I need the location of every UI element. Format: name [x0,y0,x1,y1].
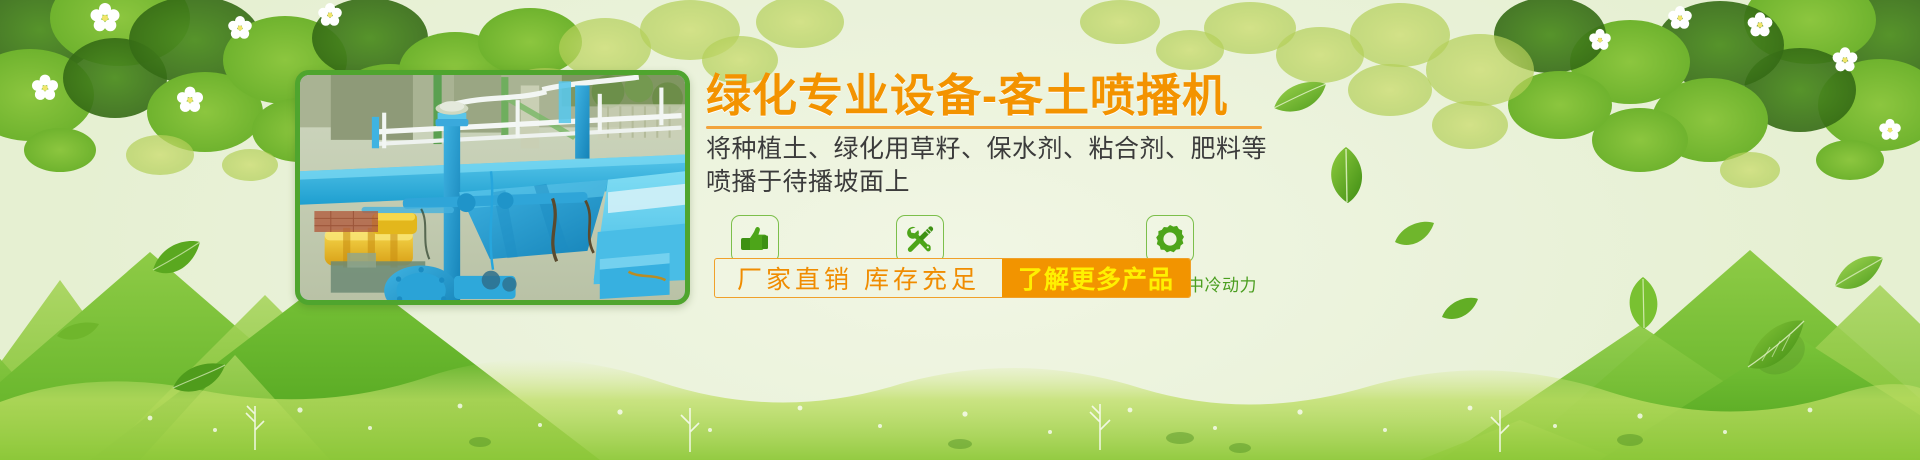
subtitle-line-2: 喷播于待播坡面上 [706,166,1466,199]
thumbs-up-icon [740,226,770,252]
product-photo-image [300,75,685,300]
page-title: 绿化专业设备-客土喷播机 [706,72,1466,119]
product-photo[interactable] [295,70,690,305]
feature-icon-box-2 [896,215,944,263]
floating-leaf-icon [1620,275,1666,336]
wrench-screwdriver-icon [905,224,935,254]
cta-slogan: 厂家直销 库存充足 [715,259,1002,297]
grass-decoration [0,310,1920,460]
promo-banner: 绿化专业设备-客土喷播机 将种植土、绿化用草籽、保水剂、粘合剂、肥料等 喷播于待… [0,0,1920,460]
subtitle-line-1: 将种植土、绿化用草籽、保水剂、粘合剂、肥料等 [706,133,1466,166]
learn-more-button[interactable]: 了解更多产品 [1002,259,1190,297]
floating-leaf-icon [1440,295,1480,330]
cta-bar: 厂家直销 库存充足 了解更多产品 [714,258,1191,298]
title-divider [706,126,1262,129]
gear-ring-icon [1155,224,1185,254]
floating-leaf-icon [1740,315,1810,382]
feature-icon-box-3 [1146,215,1194,263]
floating-leaf-icon [170,360,228,405]
floating-leaf-icon [1830,250,1886,303]
floating-leaf-icon [150,238,202,287]
feature-icon-box-1 [731,215,779,263]
floating-leaf-icon [55,320,101,349]
